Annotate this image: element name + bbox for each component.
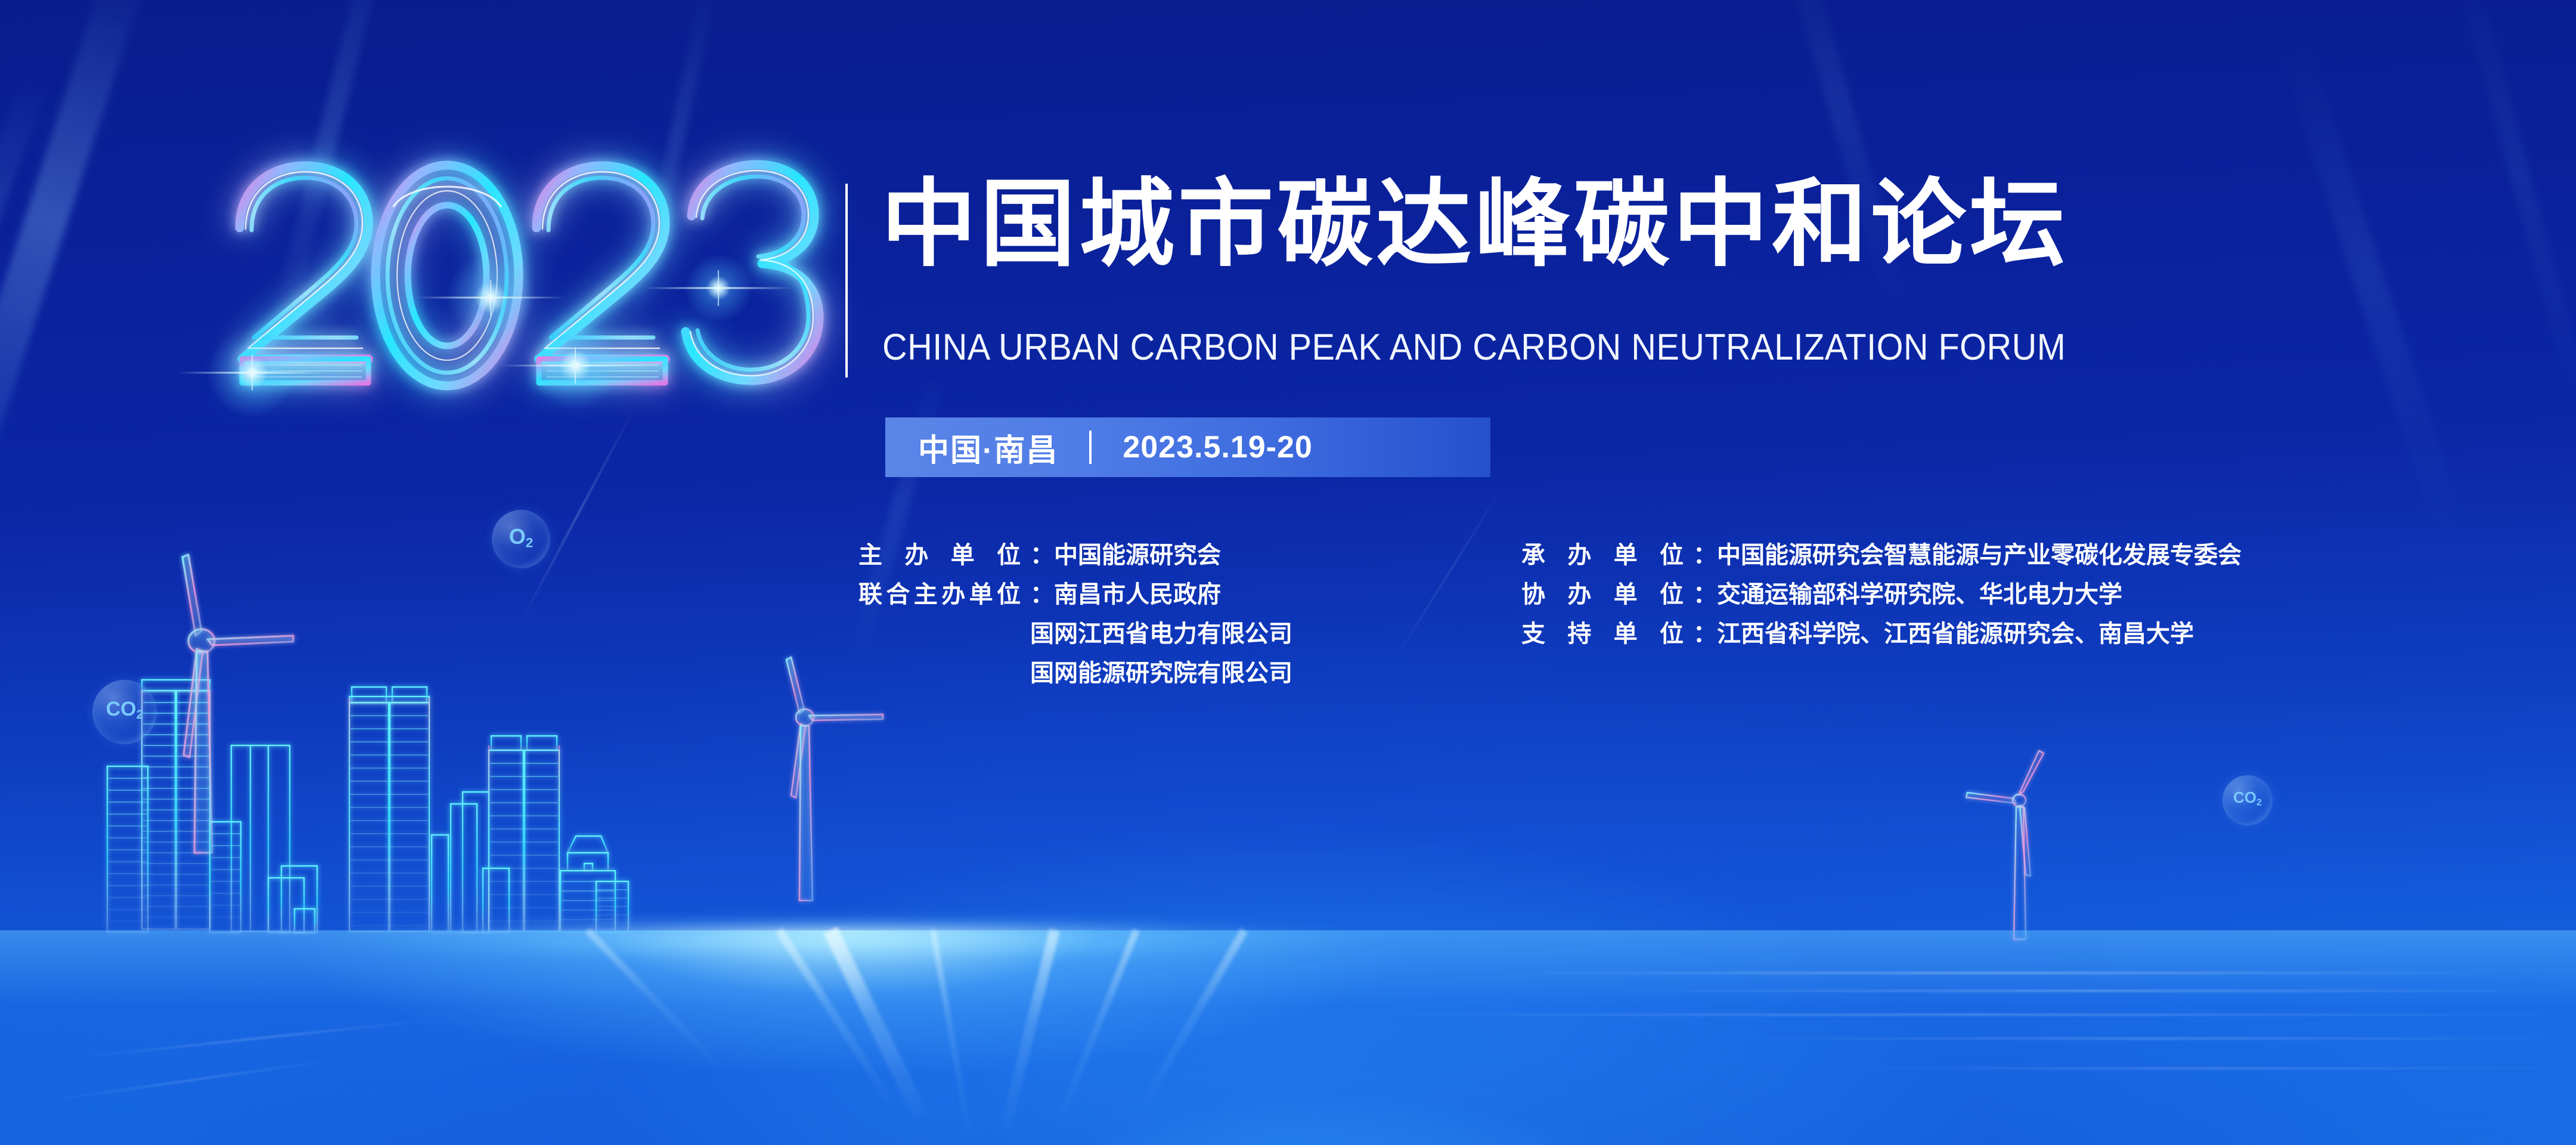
organizer-value: 交通运输部科学研究院、华北电力大学 (1717, 575, 2122, 614)
organizer-label: 主办单位 (858, 536, 1021, 575)
co2-bubble-right: CO2 (2222, 775, 2273, 825)
organizer-continuation: 国网江西省电力有限公司 (1030, 614, 1292, 654)
organizer-row: 承办单位 ： 中国能源研究会智慧能源与产业零碳化发展专委会 (1521, 536, 2242, 575)
organizer-value: 中国能源研究会 (1054, 536, 1221, 575)
wind-turbine-left (83, 519, 358, 948)
organizer-label: 协办单位 (1521, 575, 1684, 614)
co2-bubble-right-sub: 2 (2256, 797, 2262, 808)
organizer-continuation: 国网能源研究院有限公司 (1030, 654, 1292, 693)
o2-bubble-top: O2 (492, 510, 550, 568)
organizer-row: 支持单位 ： 江西省科学院、江西省能源研究会、南昌大学 (1521, 614, 2242, 654)
organizer-row: 协办单位 ： 交通运输部科学研究院、华北电力大学 (1521, 575, 2242, 614)
organizer-label: 联合主办单位 (858, 575, 1021, 614)
organizer-value: 南昌市人民政府 (1054, 575, 1221, 614)
location-text: 中国·南昌 (918, 425, 1058, 470)
organizers-right-column: 承办单位 ： 中国能源研究会智慧能源与产业零碳化发展专委会 协办单位 ： 交通运… (1521, 536, 2242, 654)
organizer-label: 支持单位 (1521, 614, 1684, 654)
year-logo-2023 (215, 149, 823, 406)
organizer-row: 联合主办单位 ： 南昌市人民政府 (858, 575, 1292, 614)
organizer-value: 中国能源研究会智慧能源与产业零碳化发展专委会 (1717, 536, 2242, 575)
organizer-label: 承办单位 (1521, 536, 1684, 575)
o2-bubble-sub: 2 (526, 535, 533, 550)
organizer-colon: ： (1030, 536, 1054, 575)
co2-bubble-right-label: CO (2233, 788, 2256, 806)
location-date-bar: 中国·南昌 2023.5.19-20 (885, 417, 1490, 477)
o2-bubble-label: O (509, 524, 526, 549)
organizer-row: 主办单位 ： 中国能源研究会 (858, 536, 1292, 575)
ground-plane (0, 930, 2576, 1145)
title-divider (845, 184, 848, 377)
dates-text: 2023.5.19-20 (1123, 429, 1313, 465)
conference-banner: CO2 O2 CO2 (0, 0, 2576, 1145)
organizer-value: 江西省科学院、江西省能源研究会、南昌大学 (1717, 614, 2194, 654)
datebar-separator (1089, 431, 1092, 464)
organizers-left-column: 主办单位 ： 中国能源研究会 联合主办单位 ： 南昌市人民政府 国网江西省电力有… (858, 536, 1292, 693)
organizer-colon: ： (1693, 614, 1717, 654)
organizer-colon: ： (1030, 575, 1054, 614)
organizer-colon: ： (1693, 575, 1717, 614)
organizer-colon: ： (1693, 536, 1717, 575)
page-subtitle-en: CHINA URBAN CARBON PEAK AND CARBON NEUTR… (882, 326, 2252, 370)
wind-turbine-right (1961, 748, 2116, 981)
page-title-cn: 中国城市碳达峰碳中和论坛 (881, 165, 2348, 284)
